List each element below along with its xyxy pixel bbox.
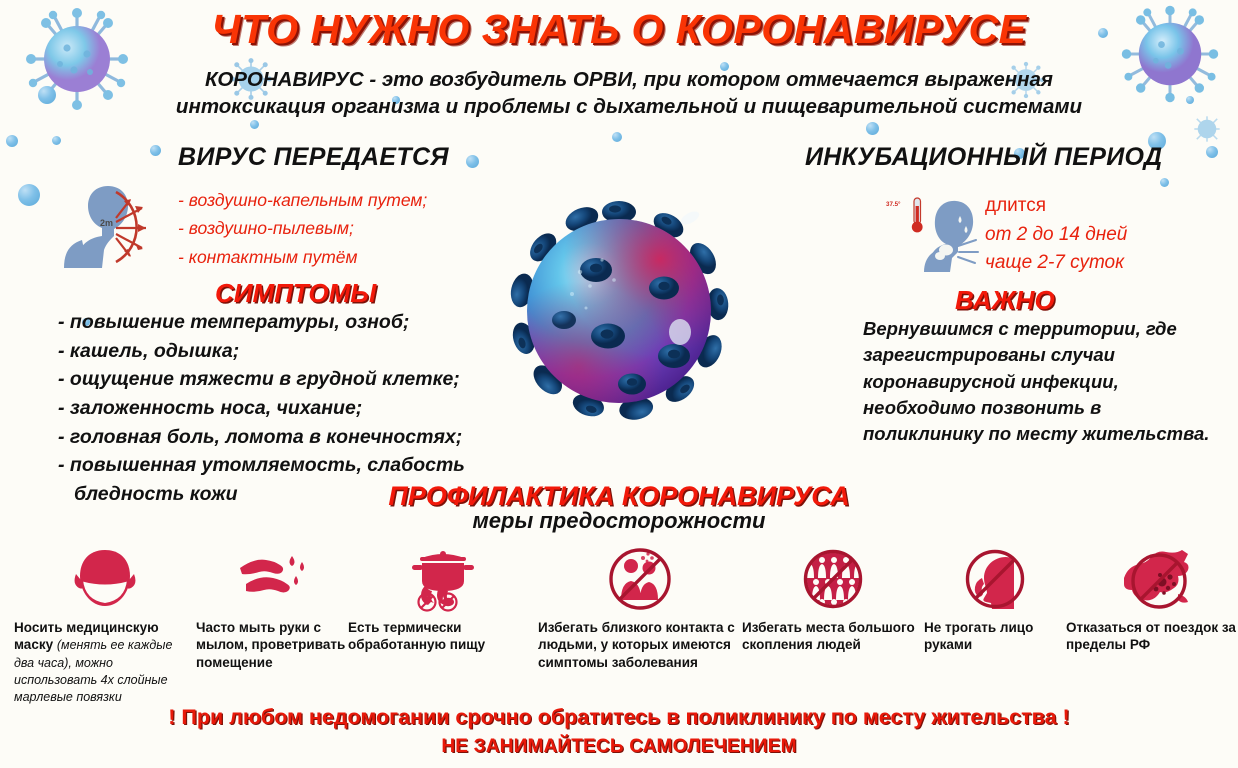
symptom-item: - ощущение тяжести в грудной клетке;: [58, 365, 465, 394]
head-distance-2m-icon: 2m: [58, 182, 162, 268]
caption-main: Есть термически обработанную пищу: [348, 620, 485, 652]
decorative-dot: [866, 122, 879, 135]
caption-main: Отказаться от поездок за пределы РФ: [1066, 620, 1236, 652]
incubation-details: длится от 2 до 14 дней чаще 2-7 суток: [985, 192, 1127, 278]
caption-main: Часто мыть руки с мылом, проветривать по…: [196, 620, 345, 670]
coughing-person-thermometer-icon: 37.5°: [884, 192, 980, 272]
symptom-item: - повышение температуры, озноб;: [58, 308, 465, 337]
symptoms-list: - повышение температуры, озноб; - кашель…: [58, 308, 465, 509]
coronavirus-illustration: [468, 160, 770, 462]
thermometer-reading: 37.5°: [886, 201, 901, 208]
avoid-crowds-icon: [800, 548, 866, 610]
symptom-item: - головная боль, ломота в конечностях;: [58, 423, 465, 452]
warning-banner-line-1: ! При любом недомогании срочно обратитес…: [0, 705, 1238, 730]
symptom-item: - кашель, одышка;: [58, 337, 465, 366]
intro-line-1: КОРОНАВИРУС - это возбудитель ОРВИ, при …: [55, 66, 1203, 93]
decorative-dot: [6, 135, 18, 147]
decorative-dot: [150, 145, 161, 156]
important-body: Вернувшимся с территории, где зарегистри…: [863, 316, 1218, 447]
no-travel-map-icon: [1112, 548, 1192, 610]
cooking-pot-icon: [404, 546, 482, 612]
avoid-sick-contact-icon: [607, 548, 673, 610]
prevention-card-caption: Отказаться от поездок за пределы РФ: [1066, 619, 1238, 654]
transmission-list: - воздушно-капельным путем; - воздушно-п…: [178, 186, 427, 271]
prevention-subheading: меры предосторожности: [0, 508, 1238, 534]
prevention-card: Отказаться от поездок за пределы РФ: [1066, 545, 1238, 700]
prevention-card: Есть термически обработанную пищу: [348, 545, 538, 700]
prevention-card-row: Носить медицинскую маску (менять ее кажд…: [0, 545, 1238, 700]
important-heading: ВАЖНО: [955, 285, 1055, 316]
prevention-card-caption: Часто мыть руки с мылом, проветривать по…: [196, 619, 348, 671]
prevention-card: Не трогать лицо руками: [924, 545, 1066, 700]
caption-main: Избегать места большого скопления людей: [742, 620, 915, 652]
washing-hands-icon: [236, 550, 308, 608]
symptom-item: - повышенная утомляемость, слабость: [58, 451, 465, 480]
prevention-card-caption: Избегать близкого контакта с людьми, у к…: [538, 619, 742, 671]
decorative-dot: [52, 136, 61, 145]
transmission-heading: ВИРУС ПЕРЕДАЕТСЯ: [178, 143, 449, 172]
intro-line-2: интоксикация организма и проблемы с дыха…: [55, 93, 1203, 120]
symptom-item: - заложенность носа, чихание;: [58, 394, 465, 423]
incubation-line-typical: чаще 2-7 суток: [985, 249, 1127, 278]
incubation-line-plain: длится: [985, 192, 1127, 221]
prevention-card: Избегать близкого контакта с людьми, у к…: [538, 545, 742, 700]
decorative-dot: [250, 120, 259, 129]
incubation-line-range: от 2 до 14 дней: [985, 221, 1127, 250]
prevention-card-caption: Не трогать лицо руками: [924, 619, 1066, 654]
prevention-card: Избегать места большого скопления людей: [742, 545, 924, 700]
prevention-card-caption: Носить медицинскую маску (менять ее кажд…: [14, 619, 196, 705]
incubation-heading: ИНКУБАЦИОННЫЙ ПЕРИОД: [805, 143, 1162, 172]
transmission-item: - воздушно-пылевым;: [178, 214, 427, 242]
decorative-dot: [1206, 146, 1218, 158]
decorative-dot: [612, 132, 622, 142]
page-title: ЧТО НУЖНО ЗНАТЬ О КОРОНАВИРУСЕ: [0, 6, 1238, 53]
poster-root: ЧТО НУЖНО ЗНАТЬ О КОРОНАВИРУСЕ КОРОНАВИР…: [0, 0, 1238, 768]
caption-main: Не трогать лицо руками: [924, 620, 1033, 652]
symptoms-heading: СИМПТОМЫ: [215, 278, 376, 309]
decorative-dot: [38, 86, 56, 104]
no-face-touch-icon: [962, 548, 1028, 610]
thermometer-icon: 37.5°: [886, 198, 923, 232]
caption-main: Избегать близкого контакта с людьми, у к…: [538, 620, 735, 670]
intro-paragraph: КОРОНАВИРУС - это возбудитель ОРВИ, при …: [55, 66, 1203, 120]
prevention-card-caption: Есть термически обработанную пищу: [348, 619, 538, 654]
transmission-item: - контактным путём: [178, 243, 427, 271]
decorative-dot: [18, 184, 40, 206]
face-mask-icon: [70, 548, 140, 610]
prevention-card: Часто мыть руки с мылом, проветривать по…: [196, 545, 348, 700]
decorative-dot: [1160, 178, 1169, 187]
warning-banner-line-2: НЕ ЗАНИМАЙТЕСЬ САМОЛЕЧЕНИЕМ: [0, 736, 1238, 758]
prevention-card: Носить медицинскую маску (менять ее кажд…: [0, 545, 196, 700]
distance-label: 2m: [100, 218, 113, 228]
prevention-card-caption: Избегать места большого скопления людей: [742, 619, 924, 654]
transmission-item: - воздушно-капельным путем;: [178, 186, 427, 214]
